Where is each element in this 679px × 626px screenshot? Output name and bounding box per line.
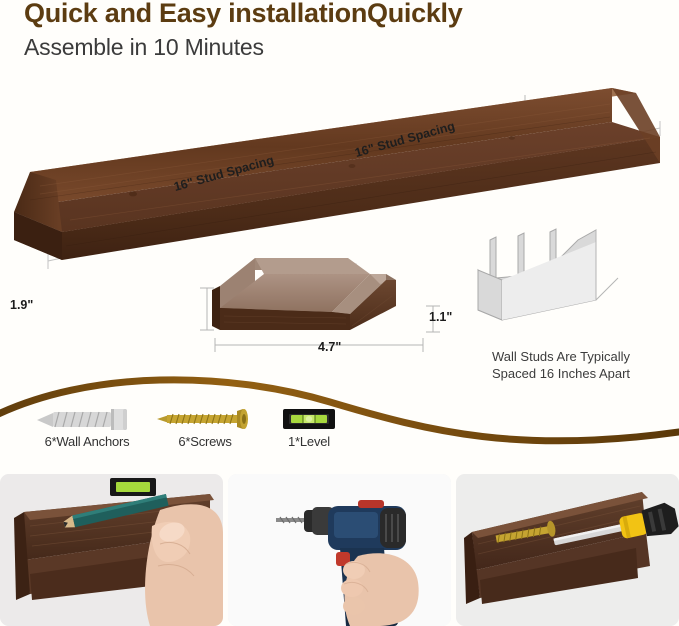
wall-anchor-icon [22,404,152,434]
hardware-label-wall-anchors: 6*Wall Anchors [22,434,152,449]
wall-studs-caption-line1: Wall Studs Are Typically [492,348,679,365]
hardware-label-screws: 6*Screws [150,434,260,449]
dim-label-depth: 4.7" [318,340,341,354]
hardware-item-level: 1*Level [266,404,352,449]
dim-label-lip: 1.1" [429,310,452,324]
page-title: Quick and Easy installationQuickly [24,0,462,29]
wall-studs-illustration [468,228,668,358]
page-subtitle: Assemble in 10 Minutes [24,34,264,61]
photo-drive-screw [456,474,679,626]
infographic-root: Quick and Easy installationQuickly Assem… [0,0,679,626]
screw-icon [150,404,260,434]
hardware-label-level: 1*Level [266,434,352,449]
hardware-item-screws: 6*Screws [150,404,260,449]
photo-mark-with-pencil [0,474,223,626]
bubble-level-icon [266,404,352,434]
hardware-item-wall-anchors: 6*Wall Anchors [22,404,152,449]
dim-label-height: 1.9" [10,298,33,312]
installation-steps-photos [0,474,679,626]
photo-drill-wall [228,474,451,626]
